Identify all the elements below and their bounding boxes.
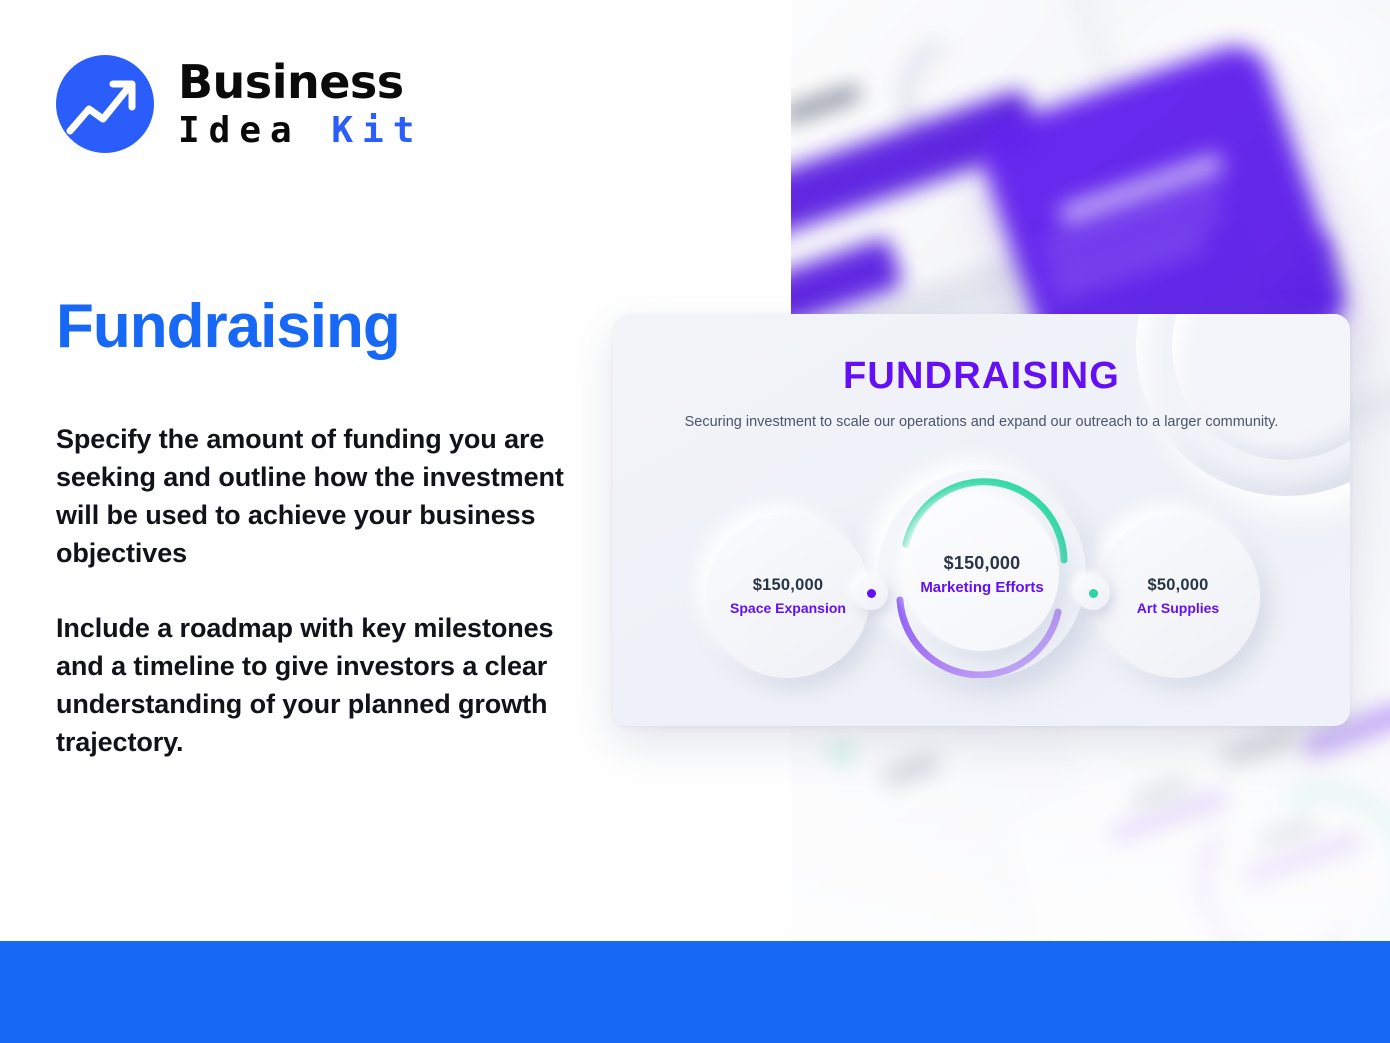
slide-canvas: FUNDRAISING Securing investment to scale… bbox=[0, 0, 1390, 1043]
funding-amount: $50,000 bbox=[1147, 576, 1208, 595]
body-paragraph-1: Specify the amount of funding you are se… bbox=[56, 420, 566, 572]
card-title: FUNDRAISING bbox=[613, 355, 1350, 398]
connector-node-left bbox=[854, 576, 888, 610]
decorative-rings bbox=[1136, 314, 1350, 496]
funding-circle-space-expansion[interactable]: $150,000 Space Expansion bbox=[706, 514, 870, 678]
brand-wordmark: Business Idea Kit bbox=[178, 59, 423, 149]
funding-circle-marketing-efforts[interactable]: $150,000 Marketing Efforts bbox=[878, 470, 1086, 678]
body-paragraph-2: Include a roadmap with key milestones an… bbox=[56, 609, 566, 761]
funding-amount: $150,000 bbox=[944, 553, 1021, 574]
growth-arrow-icon bbox=[56, 55, 154, 153]
funding-label: Space Expansion bbox=[730, 600, 846, 616]
funding-amount: $150,000 bbox=[753, 576, 823, 595]
brand-logo[interactable]: Business Idea Kit bbox=[56, 55, 423, 153]
brand-name-line2: Idea Kit bbox=[178, 113, 423, 149]
footer-bar bbox=[0, 941, 1390, 1043]
funding-label: Art Supplies bbox=[1137, 600, 1219, 616]
left-margin-strip bbox=[0, 0, 3, 941]
funding-label: Marketing Efforts bbox=[920, 579, 1043, 596]
connector-dot-green bbox=[1089, 589, 1098, 598]
circle-inner-face: $150,000 Marketing Efforts bbox=[905, 497, 1059, 651]
brand-name-idea: Idea bbox=[178, 110, 331, 151]
connector-dot-purple bbox=[867, 589, 876, 598]
card-subtitle: Securing investment to scale our operati… bbox=[613, 412, 1350, 432]
funding-circle-art-supplies[interactable]: $50,000 Art Supplies bbox=[1096, 514, 1260, 678]
connector-node-right bbox=[1076, 576, 1110, 610]
brand-name-kit: Kit bbox=[331, 110, 423, 151]
funding-circles-group: $150,000 Space Expansion $50,000 Art Sup… bbox=[613, 496, 1350, 696]
page-title: Fundraising bbox=[56, 296, 400, 358]
fundraising-preview-card[interactable]: FUNDRAISING Securing investment to scale… bbox=[613, 314, 1350, 726]
brand-name-line1: Business bbox=[178, 59, 423, 105]
